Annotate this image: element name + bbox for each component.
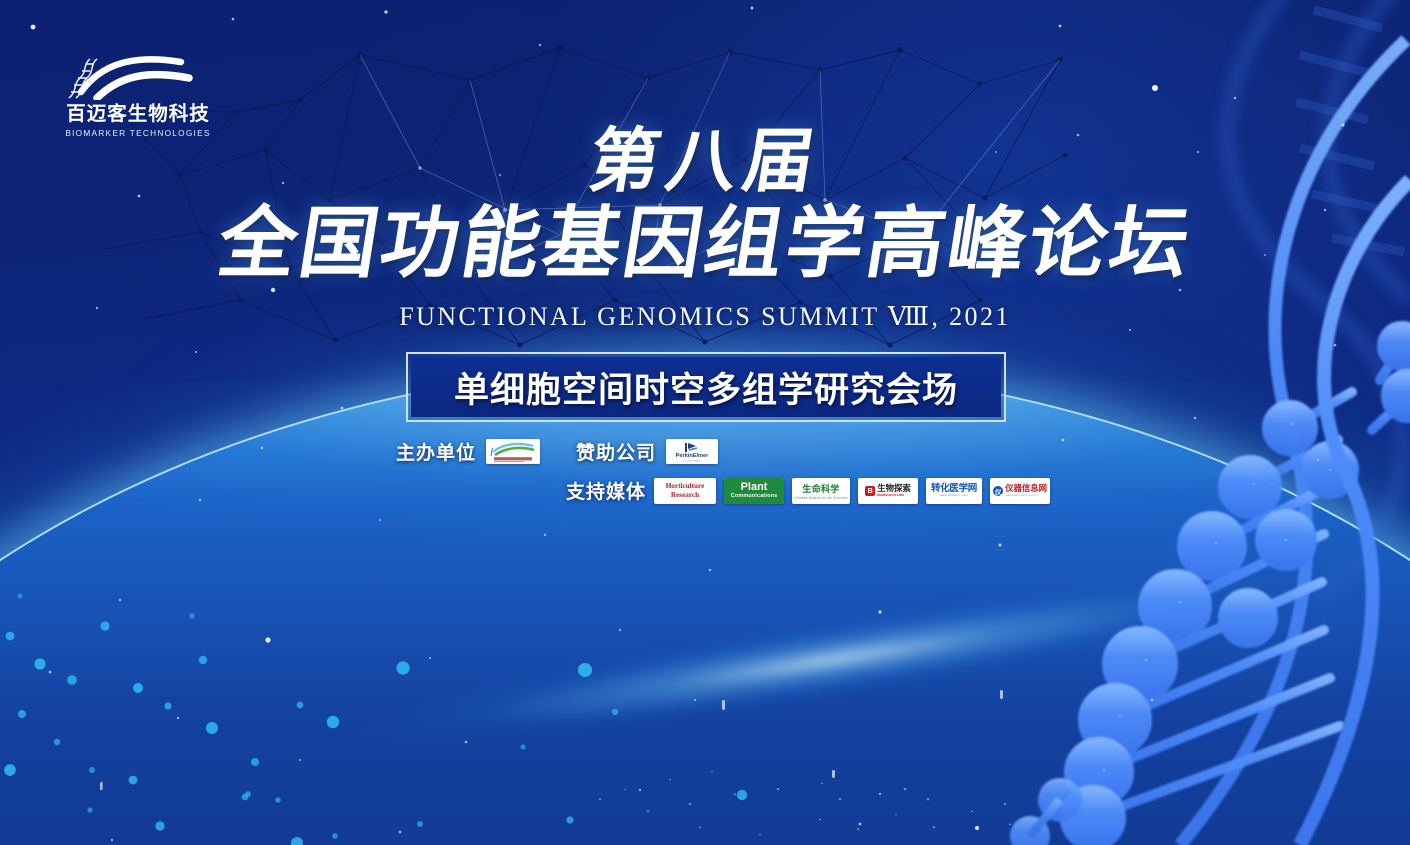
svg-text:For the Better: For the Better [683,458,700,462]
hr-line1: Horticulture [666,482,705,490]
ls-cn: 生命科学 [802,482,839,495]
biodiscover-mark-icon: B [865,486,875,496]
brand-logo: 百迈客生物科技 BIOMARKER TECHNOLOGIES [62,48,214,138]
pc-line1: Plant [741,482,768,493]
title-english: FUNCTIONAL GENOMICS SUMMIT Ⅷ, 2021 [0,302,1410,332]
tm-cn: 转化医学网 [931,484,977,494]
title-line-1: 第八届 [584,126,826,196]
media-logo-instrument-info[interactable]: 仪 仪器信息网 www.instrument.com.cn [990,478,1050,504]
organizer-label: 主办单位 [396,438,476,465]
media-logo-horticulture-research[interactable]: Horticulture Research [654,478,716,504]
title-block: 第八届 全国功能基因组学高峰论坛 FUNCTIONAL GENOMICS SUM… [0,126,1410,332]
yq-en: www.instrument.com.cn [1005,494,1038,497]
conference-banner: 百迈客生物科技 BIOMARKER TECHNOLOGIES 第八届 全国功能基… [0,0,1410,845]
session-title-box: 单细胞空间时空多组学研究会场 [406,352,1006,422]
yq-cn: 仪器信息网 [1005,484,1047,492]
instrument-mark-icon: 仪 [993,486,1003,496]
bd-en: biodiscover.com [877,494,904,497]
organizer-sponsor-row: 主办单位 赞助公司 PerkinElm [396,438,718,465]
session-title-text: 单细胞空间时空多组学研究会场 [454,362,958,413]
hr-line2: Research [671,491,699,499]
tm-en: www.360zhyx.com [940,494,969,497]
pc-line2: Communications [731,494,778,499]
media-label: 支持媒体 [566,477,646,504]
swoosh-icon [62,48,214,100]
title-line-2: 全国功能基因组学高峰论坛 [212,204,1197,286]
media-logo-life-science[interactable]: 生命科学 Chinese Bulletin of Life Sciences [792,478,850,504]
sponsor-label: 赞助公司 [576,438,656,465]
organizer-logo-biomarker[interactable] [486,439,540,464]
media-logo-plant-communications[interactable]: Plant Communications [724,478,784,504]
sponsor-logo-perkinelmer[interactable]: PerkinElmer For the Better [666,439,718,464]
logo-cn-name: 百迈客生物科技 [62,103,214,124]
bd-cn: 生物探索 [877,484,911,492]
media-logo-biodiscover[interactable]: B 生物探索 biodiscover.com [858,478,918,504]
media-logo-translational-medicine[interactable]: 转化医学网 www.360zhyx.com [926,478,982,504]
ls-en: Chinese Bulletin of Life Sciences [795,496,848,500]
media-sponsor-row: 支持媒体 Horticulture Research Plant Communi… [566,477,1050,504]
